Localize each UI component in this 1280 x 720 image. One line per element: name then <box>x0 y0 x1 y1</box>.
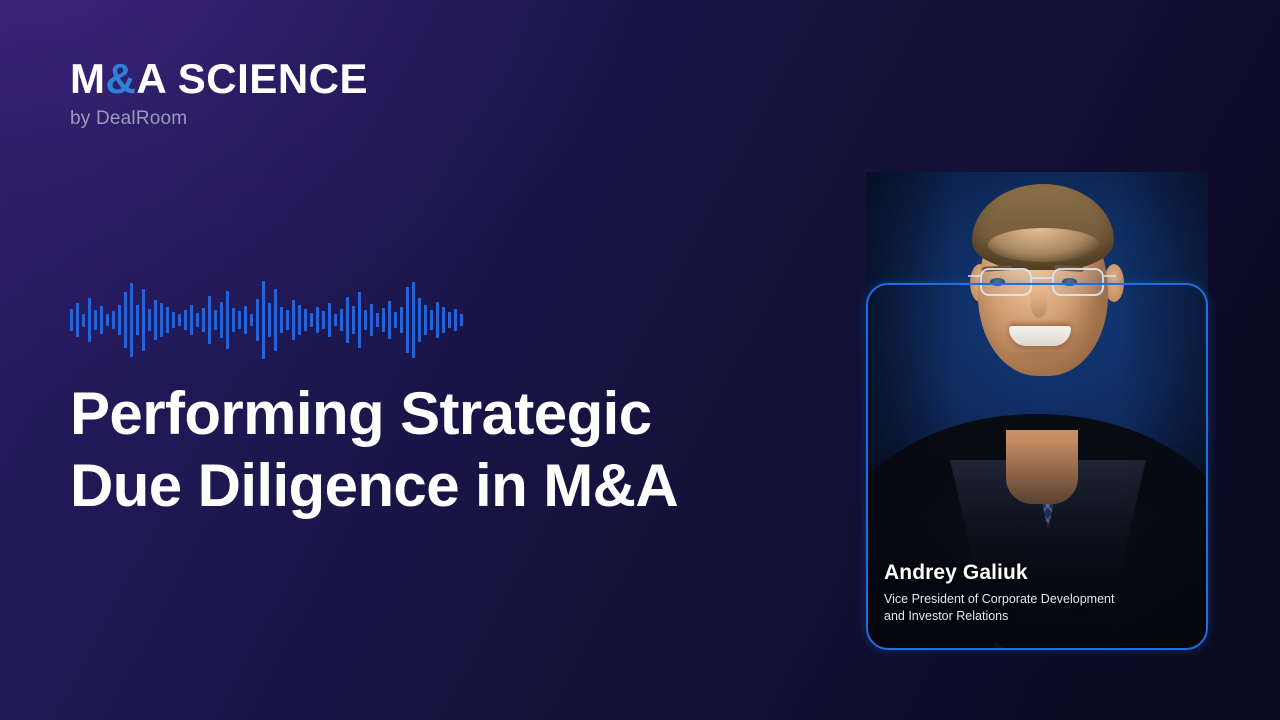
waveform-bar <box>76 303 79 337</box>
waveform-bar <box>202 308 205 332</box>
waveform-bar <box>94 310 97 330</box>
waveform-bar <box>412 282 415 358</box>
waveform-bar <box>292 300 295 340</box>
podcast-title-card: M&A SCIENCE by DealRoom Performing Strat… <box>0 0 1280 720</box>
waveform-bar <box>334 314 337 326</box>
waveform-bar <box>316 307 319 333</box>
waveform-bar <box>394 312 397 328</box>
waveform-bar <box>274 289 277 351</box>
waveform-bar <box>352 306 355 334</box>
waveform-bar <box>142 289 145 351</box>
brand-wordmark: M&A SCIENCE <box>70 58 368 100</box>
waveform-bar <box>370 304 373 336</box>
waveform-bar <box>322 311 325 329</box>
waveform-bar <box>220 302 223 338</box>
brand-logo: M&A SCIENCE by DealRoom <box>70 58 368 128</box>
speaker-role-line-1: Vice President of Corporate Development <box>884 592 1114 606</box>
waveform-bar <box>430 310 433 330</box>
waveform-bar <box>256 299 259 341</box>
waveform-bar <box>400 307 403 333</box>
waveform-bar <box>154 300 157 340</box>
waveform-bar <box>82 314 85 327</box>
wordmark-ampersand: & <box>106 55 137 102</box>
wordmark-m: M <box>70 55 106 102</box>
waveform-bar <box>298 305 301 335</box>
speaker-role-line-2: and Investor Relations <box>884 609 1008 623</box>
waveform-bar <box>112 311 115 329</box>
waveform-bar <box>208 296 211 344</box>
waveform-bar <box>244 306 247 334</box>
waveform-bar <box>454 309 457 331</box>
waveform-bar <box>340 309 343 331</box>
waveform-bar <box>280 307 283 333</box>
waveform-bar <box>100 306 103 334</box>
waveform-bar <box>214 310 217 330</box>
speaker-portrait-card: Andrey Galiuk Vice President of Corporat… <box>866 172 1208 650</box>
waveform-bar <box>250 314 253 326</box>
speaker-caption: Andrey Galiuk Vice President of Corporat… <box>884 561 1188 626</box>
waveform-bar <box>166 307 169 333</box>
waveform-bar <box>124 292 127 348</box>
waveform-bar <box>238 311 241 329</box>
waveform-bar <box>88 298 91 342</box>
waveform-bar <box>196 313 199 327</box>
waveform-bar <box>226 291 229 349</box>
speaker-name: Andrey Galiuk <box>884 561 1188 585</box>
waveform-bar <box>358 292 361 348</box>
waveform-bar <box>106 314 109 326</box>
waveform-bar <box>232 308 235 332</box>
waveform-bar <box>172 312 175 328</box>
waveform-bar <box>136 305 139 335</box>
waveform-bar <box>328 303 331 337</box>
waveform-bar <box>190 305 193 335</box>
waveform-bar <box>310 313 313 327</box>
episode-title: Performing Strategic Due Diligence in M&… <box>70 378 830 522</box>
waveform-bar <box>436 302 439 338</box>
waveform-bar <box>364 310 367 330</box>
episode-title-line-1: Performing Strategic <box>70 378 830 450</box>
brand-byline: by DealRoom <box>70 109 368 128</box>
waveform-bar <box>148 309 151 331</box>
waveform-bar <box>424 305 427 335</box>
waveform-bar <box>118 305 121 335</box>
episode-title-line-2: Due Diligence in M&A <box>70 450 830 522</box>
waveform-bar <box>406 287 409 353</box>
waveform-bar <box>460 314 463 326</box>
waveform-bar <box>304 309 307 331</box>
waveform-bar <box>382 308 385 332</box>
waveform-bar <box>448 312 451 328</box>
waveform-bar <box>184 310 187 330</box>
waveform-bar <box>178 314 181 326</box>
wordmark-a-science: A SCIENCE <box>136 55 368 102</box>
waveform-bar <box>130 283 133 357</box>
waveform-bar <box>262 281 265 359</box>
waveform-bar <box>442 307 445 333</box>
waveform-bar <box>286 310 289 330</box>
waveform-bar <box>418 298 421 342</box>
waveform-bar <box>268 303 271 337</box>
waveform-bar <box>160 303 163 337</box>
waveform-bar <box>388 301 391 339</box>
waveform-bar <box>70 309 73 331</box>
speaker-role: Vice President of Corporate Development … <box>884 591 1188 627</box>
waveform-bar <box>376 313 379 327</box>
audio-waveform-graphic <box>70 282 470 358</box>
waveform-bar <box>346 297 349 343</box>
